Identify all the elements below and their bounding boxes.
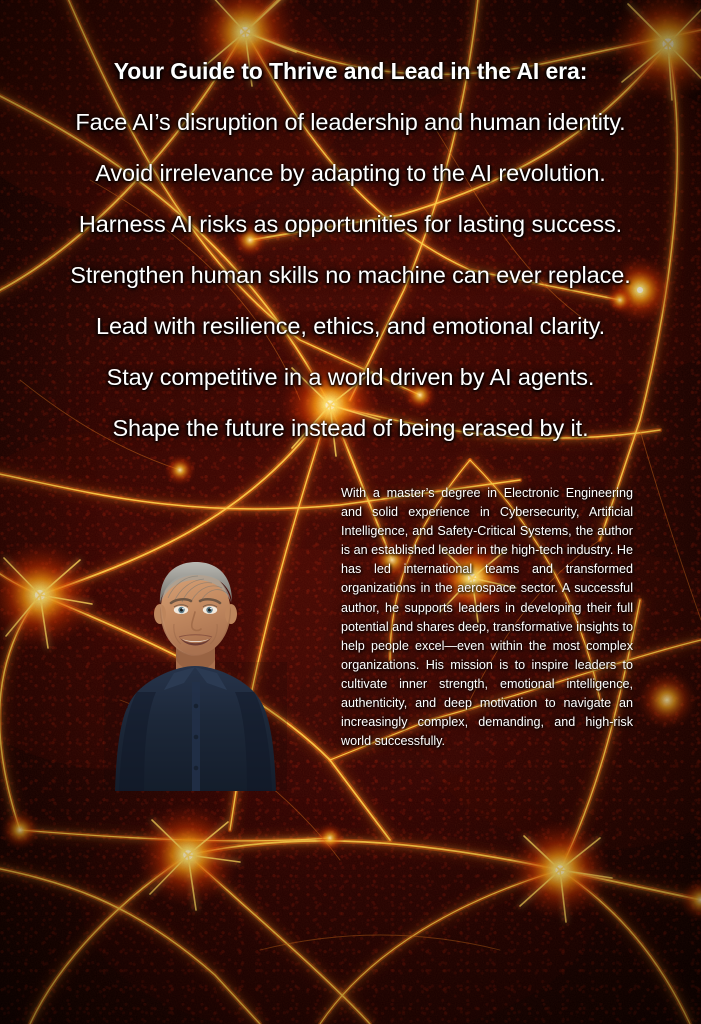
bullet-line-2: Avoid irrelevance by adapting to the AI …: [0, 148, 701, 199]
author-portrait-illustration: [104, 540, 287, 791]
author-photo: [104, 540, 287, 791]
bullet-line-1: Face AI’s disruption of leadership and h…: [0, 97, 701, 148]
bullet-line-3: Harness AI risks as opportunities for la…: [0, 199, 701, 250]
headline-block: Your Guide to Thrive and Lead in the AI …: [0, 46, 701, 454]
author-bio: With a master’s degree in Electronic Eng…: [341, 484, 633, 751]
bullet-line-7: Shape the future instead of being erased…: [0, 403, 701, 454]
bullet-line-4: Strengthen human skills no machine can e…: [0, 250, 701, 301]
bullet-line-5: Lead with resilience, ethics, and emotio…: [0, 301, 701, 352]
author-bio-text: With a master’s degree in Electronic Eng…: [341, 484, 633, 751]
bullet-line-6: Stay competitive in a world driven by AI…: [0, 352, 701, 403]
page-title: Your Guide to Thrive and Lead in the AI …: [0, 46, 701, 97]
book-cover-back: Your Guide to Thrive and Lead in the AI …: [0, 0, 701, 1024]
